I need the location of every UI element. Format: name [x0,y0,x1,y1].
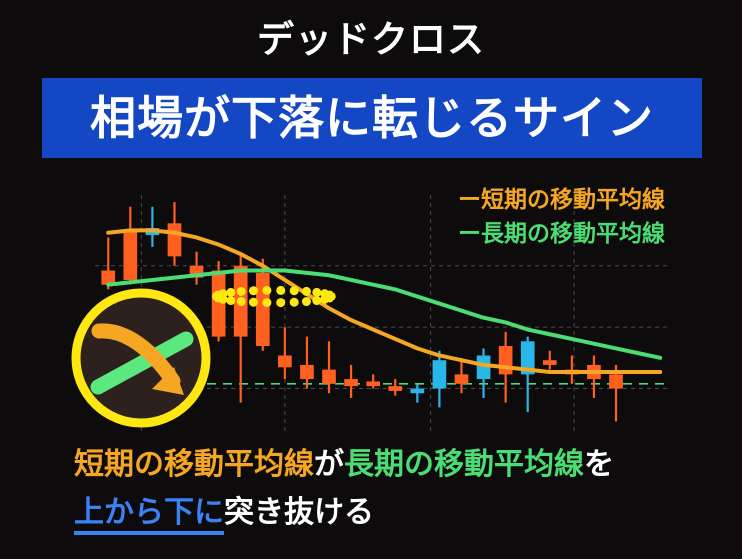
highlight-dot [226,288,235,297]
highlight-dot [276,298,285,307]
caption-direction: 上から下に [74,496,224,535]
highlight-dot [312,296,321,305]
highlight-dot [290,286,299,295]
candle-body [168,223,182,256]
caption-block: 短期の移動平均線が長期の移動平均線を 上から下に突き抜ける [74,444,694,534]
candle-body [609,374,623,388]
candle-body [499,346,513,374]
caption-verb: 突き抜ける [224,496,374,529]
candle-body [410,389,424,394]
caption-short-ma: 短期の移動平均線 [74,448,314,481]
highlight-dot [249,286,258,295]
candle-body [366,381,380,386]
highlight-dot [226,296,235,305]
highlight-dot [249,298,258,307]
highlight-dot [218,295,227,304]
page-title: デッドクロス [0,18,742,62]
caption-line-2: 上から下に突き抜ける [74,492,694,534]
candle-body [433,360,447,388]
candle-body [344,379,358,386]
candle-body [322,370,336,384]
highlight-dot [312,288,321,297]
caption-particle-ga: が [314,448,344,481]
highlight-dot [302,297,311,306]
highlight-dot [262,298,271,307]
candle-body [300,365,314,379]
dead-cross-magnifier-icon [66,283,216,433]
candle-body [543,360,557,365]
dead-cross-highlight-circle [212,286,336,307]
highlight-dot [302,287,311,296]
candle-body [256,273,270,346]
infographic-root: デッドクロス 相場が下落に転じるサイン ー短期の移動平均線 ー長期の移動平均線 … [0,0,742,559]
candle-body [278,355,292,367]
candle-body [455,374,469,383]
highlight-dot [237,297,246,306]
highlight-dot [262,286,271,295]
candle-body [123,230,137,280]
headline-banner: 相場が下落に転じるサイン [42,78,702,158]
caption-long-ma: 長期の移動平均線 [344,448,584,481]
highlight-dot [276,286,285,295]
caption-particle-wo: を [584,448,614,481]
highlight-dot [290,298,299,307]
headline-banner-text: 相場が下落に転じるサイン [90,92,654,144]
highlight-dot [325,293,334,302]
highlight-dot [237,287,246,296]
caption-line-1: 短期の移動平均線が長期の移動平均線を [74,444,694,486]
candle-body [388,386,402,391]
